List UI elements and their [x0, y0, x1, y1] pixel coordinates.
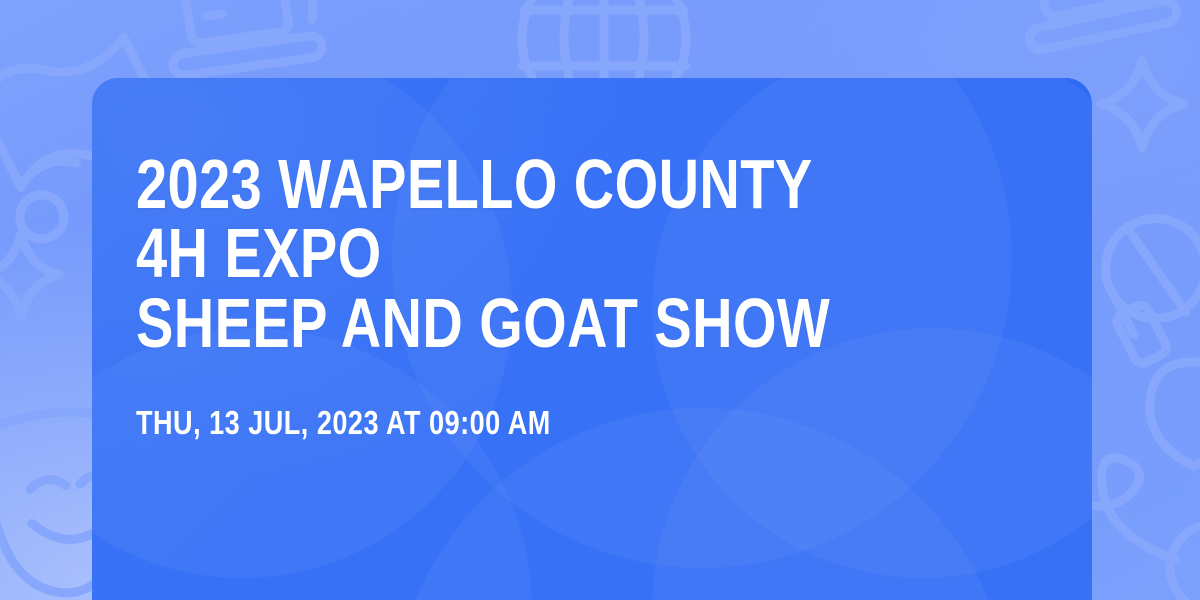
event-card: 2023 Wapello County 4H Expo Sheep and Go…	[92, 78, 1092, 600]
microphone-icon	[1078, 205, 1200, 377]
event-date: Thu, 13 Jul, 2023 at 09:00 AM	[136, 406, 887, 439]
sparkle-icon	[1100, 60, 1184, 148]
event-card-content: 2023 Wapello County 4H Expo Sheep and Go…	[136, 150, 1052, 439]
projector-icon	[161, 0, 323, 77]
sparkle-icon	[0, 234, 60, 316]
balloon-icon	[1150, 362, 1200, 466]
event-poster: 2023 Wapello County 4H Expo Sheep and Go…	[0, 0, 1200, 600]
event-title: 2023 Wapello County 4H Expo Sheep and Go…	[136, 150, 869, 358]
projector-icon	[1012, 0, 1179, 52]
